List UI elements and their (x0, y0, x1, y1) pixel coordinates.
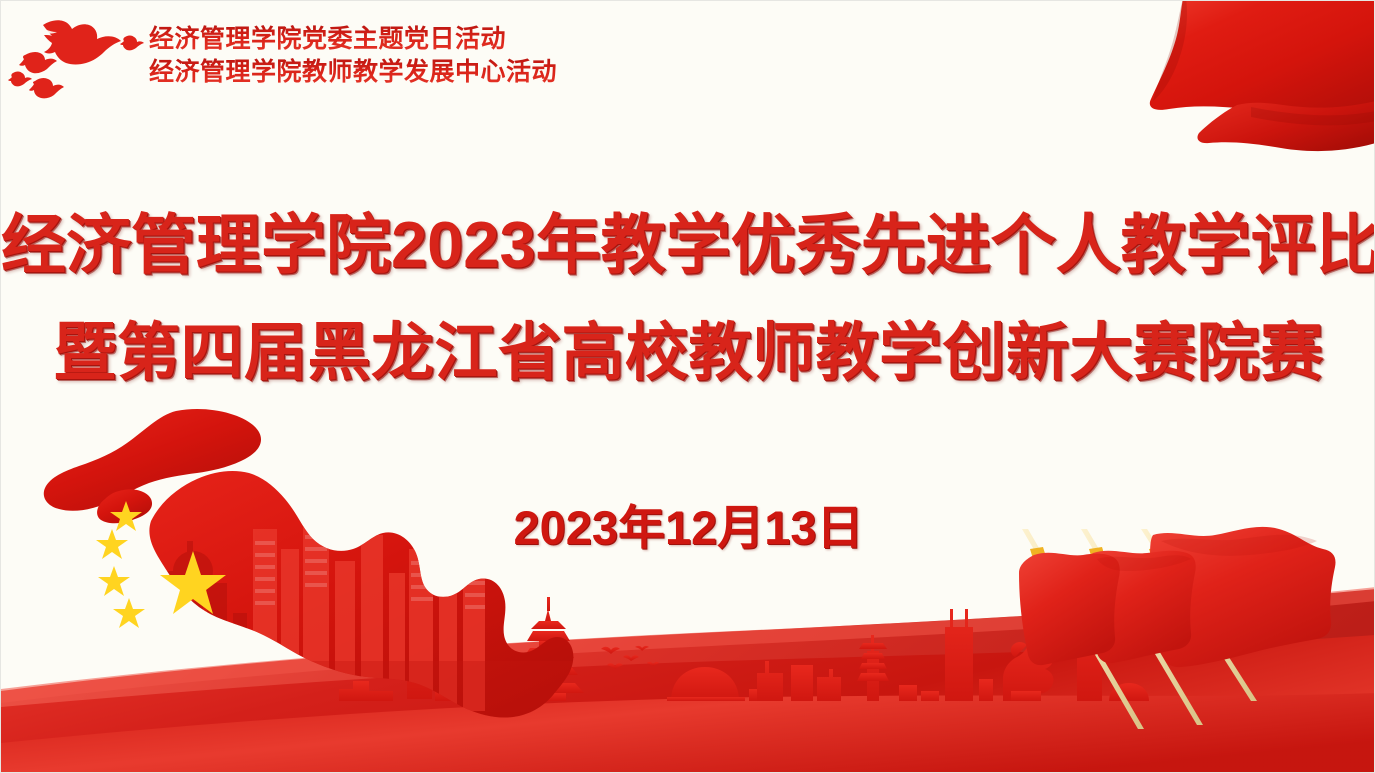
flag-1 (1019, 553, 1120, 665)
event-date: 2023年12月13日 (1, 489, 1375, 558)
flag-2 (1087, 551, 1196, 663)
header-line-1: 经济管理学院党委主题党日活动 (149, 23, 557, 56)
title-line-2: 暨第四届黑龙江省高校教师教学创新大赛院赛 (1, 299, 1375, 407)
small-gold-star-3 (98, 566, 130, 596)
flag-banner-lower (1197, 101, 1375, 151)
event-date-text: 2023年12月13日 (513, 501, 863, 554)
flag-banner-upper (1150, 1, 1375, 114)
flying-doves-icon (5, 7, 145, 112)
title-line-1: 经济管理学院2023年教学优秀先进个人教学评比 (1, 191, 1375, 299)
header-line-2: 经济管理学院教师教学发展中心活动 (149, 56, 557, 89)
flag-poles (1022, 529, 1257, 729)
page-title: 经济管理学院2023年教学优秀先进个人教学评比 暨第四届黑龙江省高校教师教学创新… (1, 191, 1375, 407)
large-gold-star (160, 551, 226, 614)
small-gold-star-4 (113, 598, 145, 628)
event-poster: 经济管理学院党委主题党日活动 经济管理学院教师教学发展中心活动 经济管理学院20… (0, 0, 1375, 773)
header-banner: 经济管理学院党委主题党日活动 经济管理学院教师教学发展中心活动 (149, 23, 557, 89)
